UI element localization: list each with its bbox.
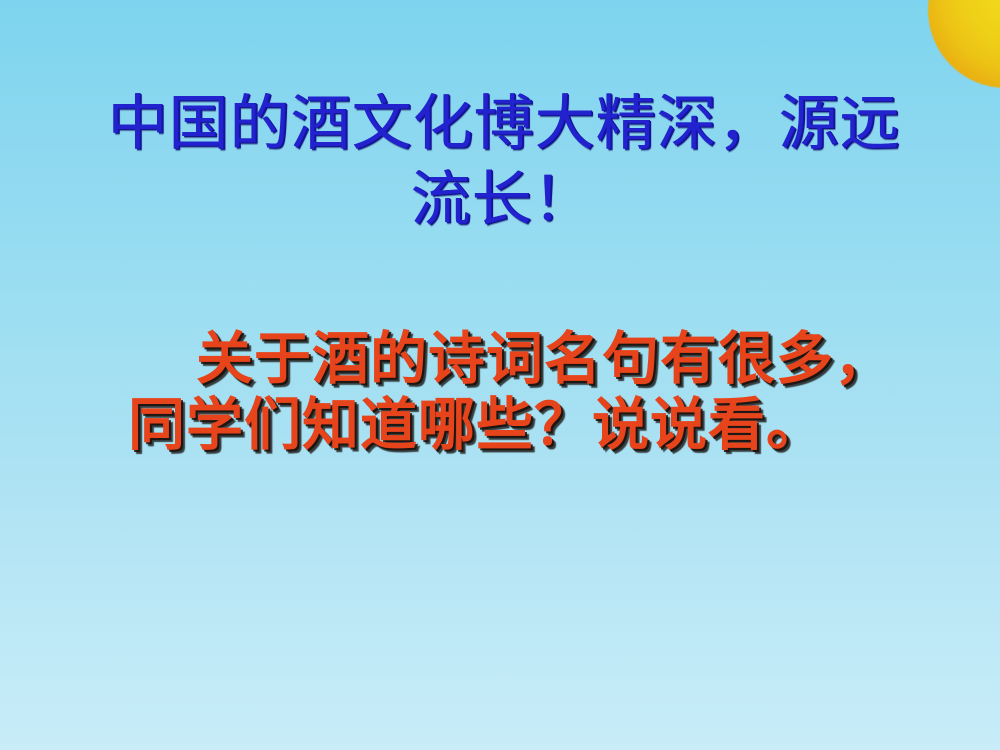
title-line-1: 中国的酒文化博大精深，源远 <box>0 86 1000 162</box>
subtitle-line-1: 关于酒的诗词名句有很多， <box>0 326 1000 392</box>
slide-subtitle: 关于酒的诗词名句有很多， 同学们知道哪些？说说看。 <box>0 326 1000 458</box>
slide-title: 中国的酒文化博大精深，源远 流长！ <box>0 86 1000 238</box>
title-line-2: 流长！ <box>0 162 1000 238</box>
sun-icon <box>928 0 1000 88</box>
presentation-slide: 中国的酒文化博大精深，源远 流长！ 关于酒的诗词名句有很多， 同学们知道哪些？说… <box>0 0 1000 750</box>
subtitle-line-2: 同学们知道哪些？说说看。 <box>0 392 1000 458</box>
